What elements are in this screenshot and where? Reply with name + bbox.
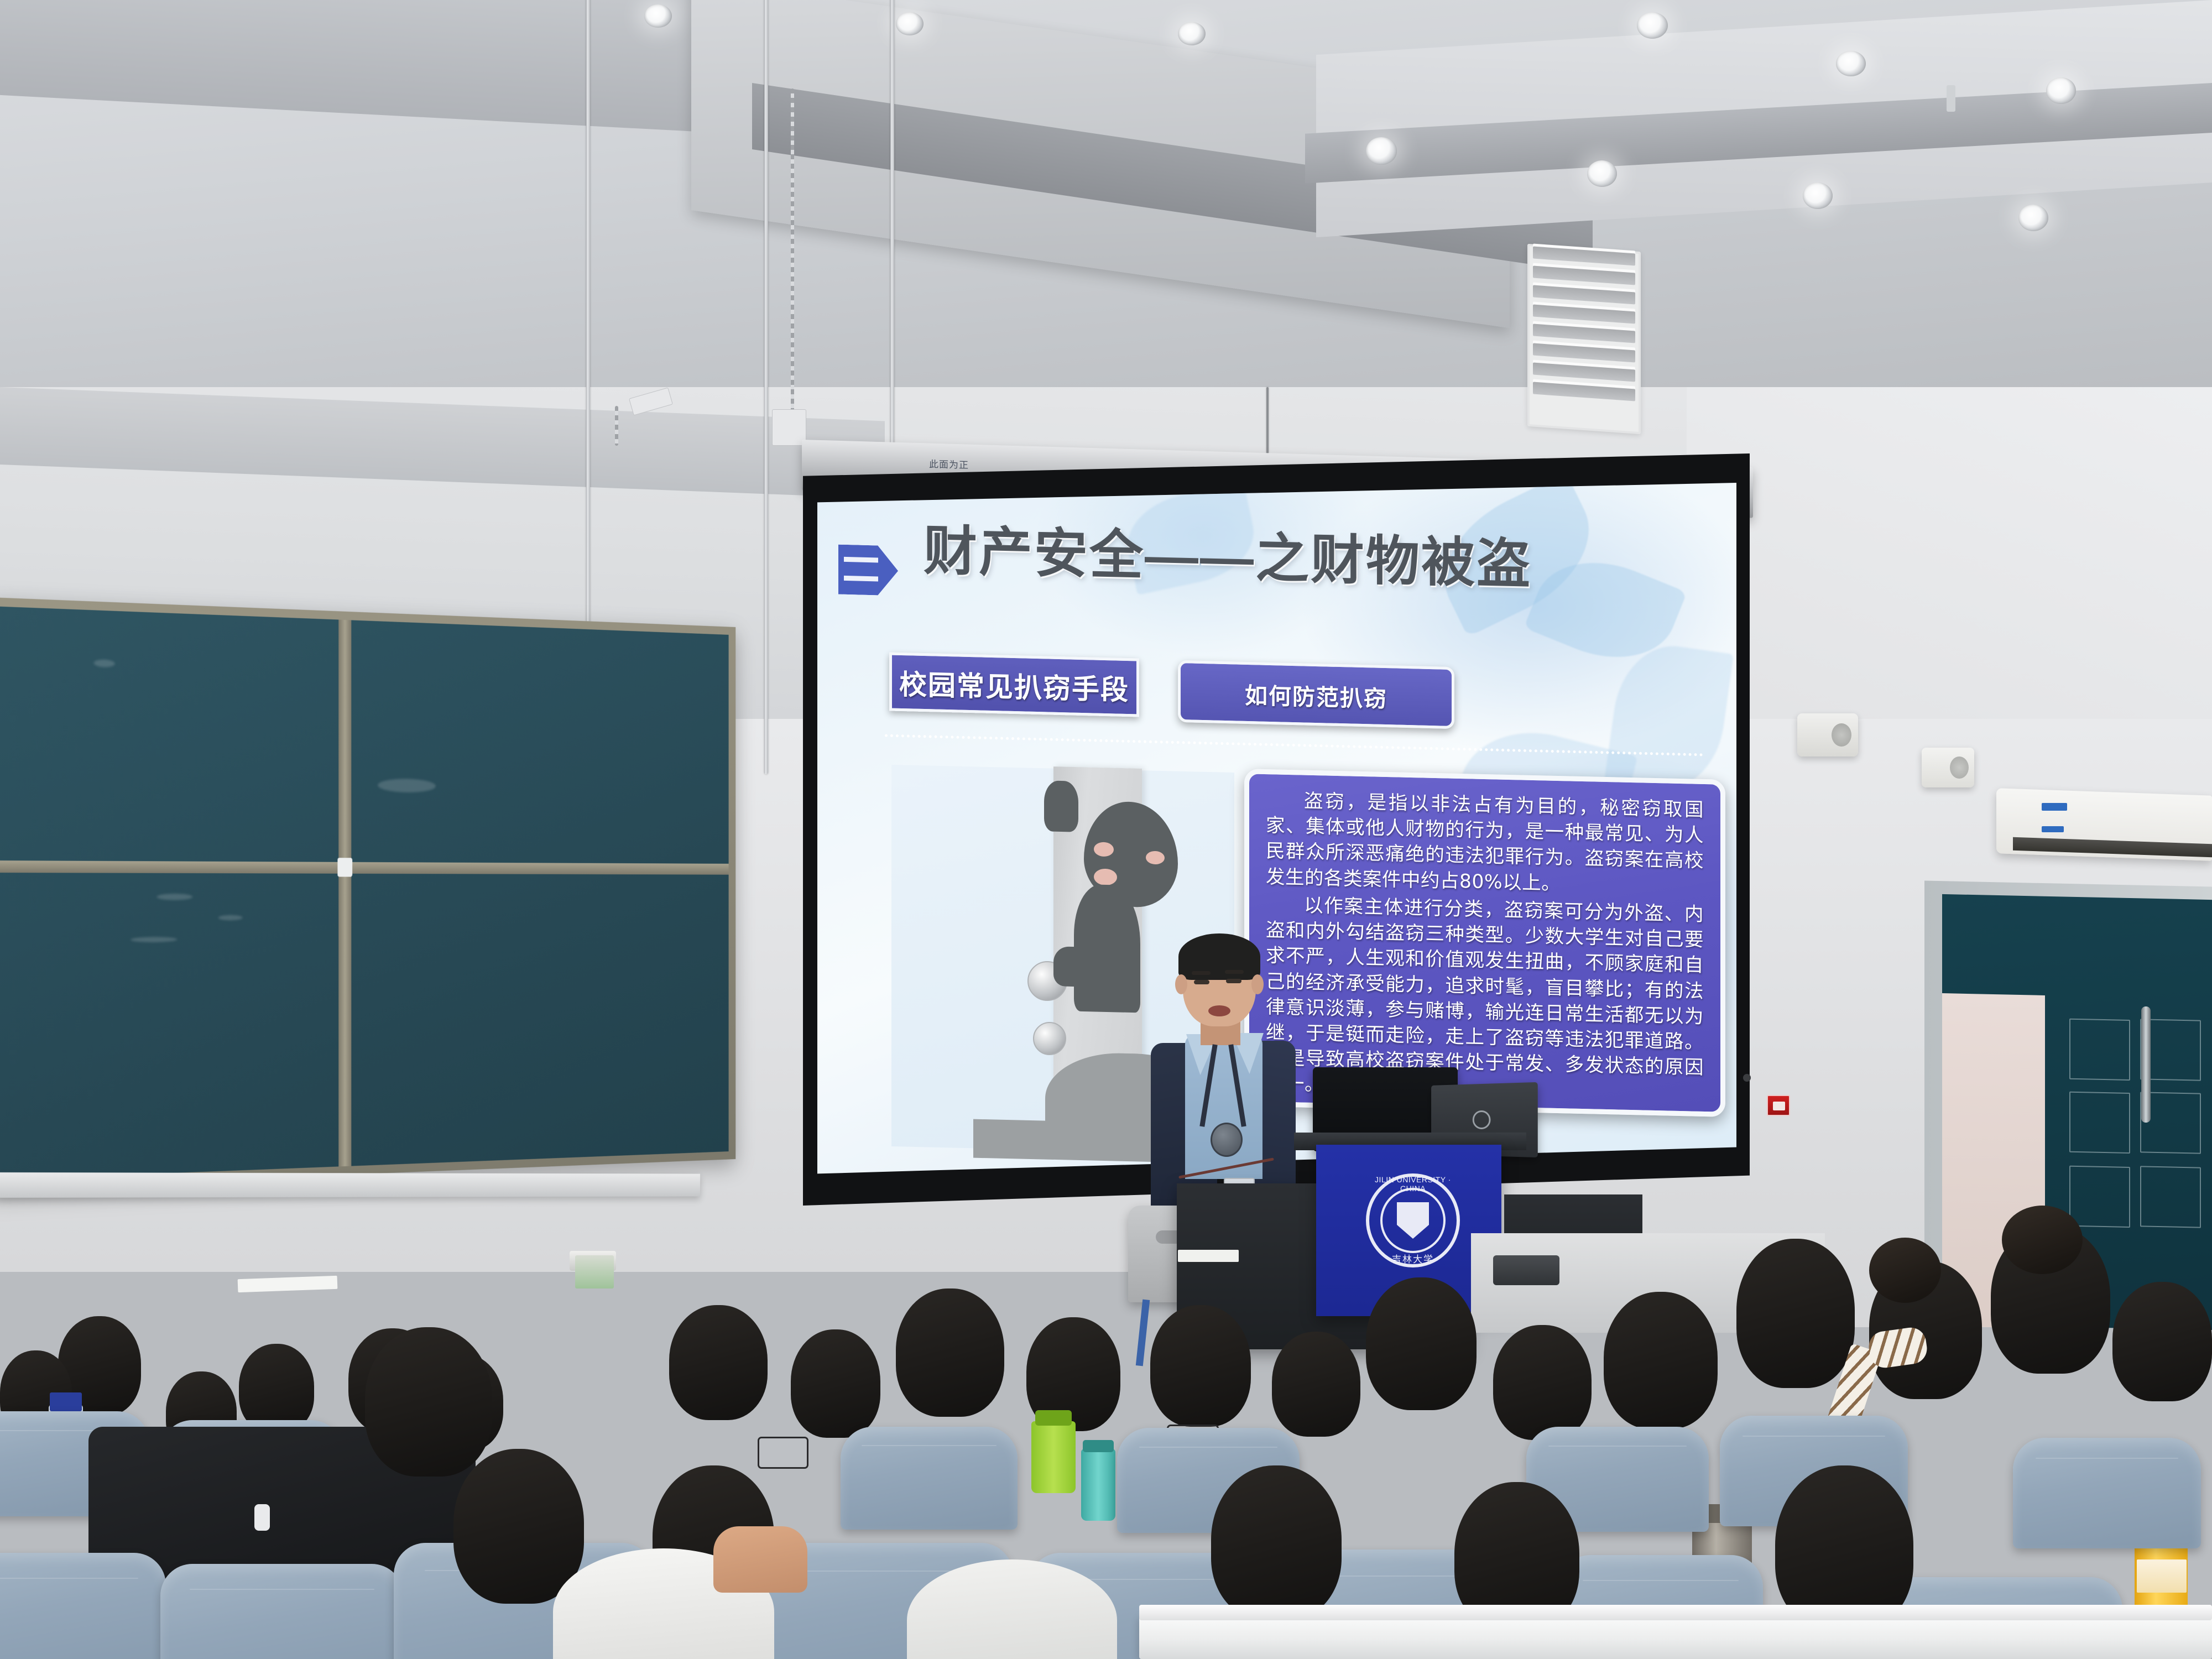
downlight-icon [2046, 77, 2076, 104]
student-head [896, 1288, 1004, 1417]
downlight-icon [2018, 205, 2048, 231]
foreground-desk-edge [1139, 1605, 2212, 1620]
emblem-arc-top: JILIN UNIVERSITY · CHINA [1369, 1175, 1457, 1193]
hair-bun [1869, 1238, 1941, 1303]
student-head [1604, 1292, 1718, 1429]
downlight-icon [1366, 137, 1397, 165]
door-handle[interactable] [2141, 1006, 2151, 1123]
student-head [669, 1305, 768, 1420]
audience-area [0, 1206, 2212, 1659]
hair-bun [2002, 1206, 2083, 1274]
ceiling-speaker-right [1922, 748, 1974, 787]
student-head [1493, 1325, 1592, 1440]
student-head [791, 1329, 880, 1438]
presenter-ear-right [1251, 974, 1264, 994]
student-head [2112, 1282, 2212, 1401]
screen-hanger-chain [791, 88, 794, 415]
bottle-cap [1083, 1440, 1114, 1452]
ceiling-cable [1266, 387, 1269, 453]
lecture-hall-photo: 此面为正 财产安全——之财物被盗 校园常见扒窃手段 如何防范扒窃 盗窃，是指以非… [0, 0, 2212, 1659]
door-lock-icon [1033, 1022, 1066, 1055]
screen-hanger-chain [615, 406, 618, 446]
downlight-icon [644, 4, 672, 28]
bottle-cap [1035, 1410, 1072, 1426]
foreground-desk [1139, 1615, 2212, 1659]
auditorium-seat[interactable] [841, 1427, 1018, 1530]
water-bottle-teal [1081, 1449, 1115, 1521]
water-bottle-green [1031, 1421, 1076, 1493]
screen-hanger-rod [764, 0, 768, 774]
screen-hanger-bracket [772, 409, 806, 446]
downlight-icon [1836, 51, 1866, 76]
slide-tab-inactive[interactable]: 如何防范扒窃 [1178, 660, 1454, 729]
student-head [1736, 1239, 1855, 1388]
auditorium-seat[interactable] [2013, 1438, 2201, 1548]
student-head [365, 1327, 492, 1477]
burglar-hand-upper [1044, 780, 1078, 832]
screen-hanger-rod [890, 0, 894, 453]
student-head [239, 1344, 314, 1432]
coat-zipper-pull [254, 1504, 270, 1531]
chalk-tray [0, 1172, 700, 1198]
eyeglasses [758, 1437, 808, 1469]
blackboard [0, 597, 735, 1189]
slide-title: 财产安全——之财物被盗 [924, 524, 1559, 592]
downlight-icon [1587, 160, 1617, 187]
downlight-icon [1637, 12, 1668, 39]
lanyard-pendant [1211, 1123, 1243, 1157]
presenter-mouth [1208, 1005, 1230, 1016]
auditorium-seat[interactable] [0, 1553, 166, 1659]
downlight-icon [1178, 22, 1206, 45]
burglar-body [1074, 884, 1140, 1013]
juice-bottle-label [2137, 1559, 2187, 1593]
presenter-hair [1178, 933, 1260, 980]
presenter-eye-left [1194, 980, 1209, 984]
burglar-hand-lower [1053, 946, 1092, 987]
slide-textbox: 盗窃，是指以非法占有为目的，秘密窃取国家、集体或他人财物的行为，是一种最常见、为… [1244, 769, 1725, 1117]
bottle-cap [50, 1392, 82, 1411]
board-clip-icon [337, 858, 352, 877]
ac-brand-logo [2042, 826, 2064, 832]
ceiling-speaker-left [1797, 713, 1858, 757]
wall-outlet-icon [1743, 1074, 1751, 1082]
presenter-brow-right [1225, 970, 1244, 974]
auditorium-seat[interactable] [160, 1564, 404, 1659]
slide-paragraph-1: 盗窃，是指以非法占有为目的，秘密窃取国家、集体或他人财物的行为，是一种最常见、为… [1266, 787, 1704, 900]
student-head [453, 1449, 584, 1604]
presenter-brow-left [1192, 971, 1211, 975]
fire-alarm-pull-station[interactable] [1767, 1095, 1790, 1116]
housing-label: 此面为正 [929, 456, 969, 471]
student-head [1211, 1465, 1342, 1620]
student-head [1150, 1305, 1251, 1427]
student-hand [713, 1526, 807, 1593]
ac-brand-logo [2042, 803, 2067, 811]
presenter-ear-left [1175, 974, 1187, 994]
slide-tab-active[interactable]: 校园常见扒窃手段 [889, 652, 1139, 717]
student-head [1366, 1277, 1477, 1410]
downlight-icon [1803, 182, 1833, 209]
ventilation-grille [1527, 244, 1641, 434]
presenter-eye-right [1226, 979, 1241, 983]
downlight-icon [896, 12, 924, 35]
ceiling-sensor-icon [1947, 85, 1955, 112]
student-head [1272, 1332, 1360, 1437]
